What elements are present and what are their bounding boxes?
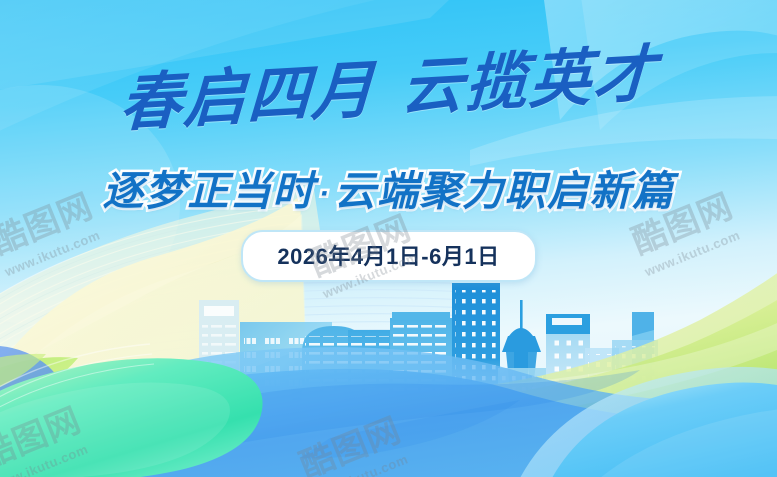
title-spacer [374,109,400,110]
subtitle: 逐梦正当时·云端聚力职启新篇 [0,157,777,217]
subtitle-right: 云端聚力职启新篇 [335,168,675,214]
recruitment-banner: 春启四月云揽英才 逐梦正当时·云端聚力职启新篇 2026年4月1日-6月1日 酷… [0,0,777,477]
event-date-text: 2026年4月1日-6月1日 [277,244,499,269]
subtitle-separator: · [315,177,335,210]
main-title-part-2: 云揽英才 [400,37,659,125]
main-title-part-1: 春启四月 [118,53,377,141]
subtitle-left: 逐梦正当时 [103,168,316,214]
event-date-pill: 2026年4月1日-6月1日 [241,230,537,282]
